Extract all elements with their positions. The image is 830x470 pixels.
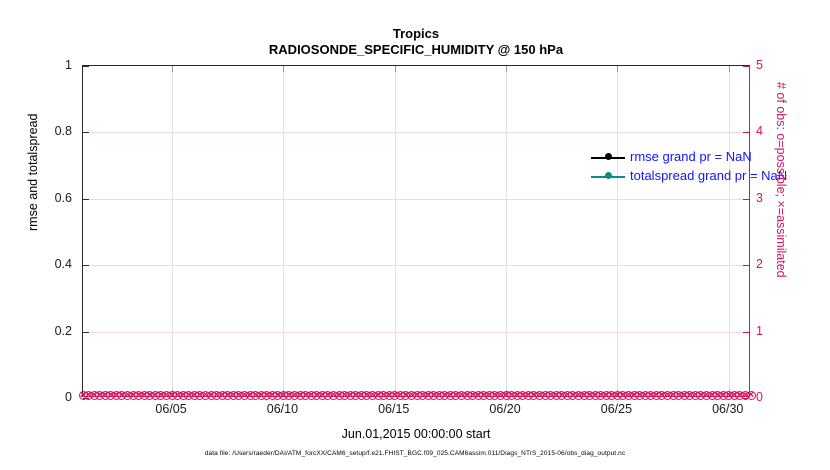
- obs-assimilated-marker: ×: [179, 391, 188, 400]
- obs-possible-marker: [268, 391, 277, 400]
- obs-assimilated-marker: ×: [479, 391, 488, 400]
- obs-assimilated-marker: ×: [580, 391, 589, 400]
- obs-assimilated-marker: ×: [557, 391, 566, 400]
- obs-possible-marker: [563, 391, 572, 400]
- obs-possible-marker: [162, 391, 171, 400]
- obs-assimilated-marker: ×: [240, 391, 249, 400]
- secondary-y-axis-tick: [743, 265, 749, 266]
- obs-possible-marker: [246, 391, 255, 400]
- obs-possible-marker: [624, 391, 633, 400]
- obs-possible-marker: [229, 391, 238, 400]
- secondary-y-axis-tick-label: 4: [756, 124, 763, 138]
- obs-assimilated-marker: ×: [418, 391, 427, 400]
- y-axis-tick: [83, 66, 89, 67]
- secondary-y-axis-tick: [743, 66, 749, 67]
- obs-assimilated-marker: ×: [574, 391, 583, 400]
- obs-possible-marker: [535, 391, 544, 400]
- obs-assimilated-marker: ×: [563, 391, 572, 400]
- horizontal-gridline: [83, 265, 749, 266]
- obs-assimilated-marker: ×: [268, 391, 277, 400]
- obs-possible-marker: [90, 391, 99, 400]
- obs-possible-marker: [602, 391, 611, 400]
- obs-assimilated-marker: ×: [708, 391, 717, 400]
- obs-possible-marker: [618, 391, 627, 400]
- obs-assimilated-marker: ×: [396, 391, 405, 400]
- obs-possible-marker: [713, 391, 722, 400]
- obs-assimilated-marker: ×: [290, 391, 299, 400]
- obs-possible-marker: [719, 391, 728, 400]
- obs-possible-marker: [696, 391, 705, 400]
- obs-possible-marker: [641, 391, 650, 400]
- obs-assimilated-marker: ×: [451, 391, 460, 400]
- legend-line-marker-icon: [591, 151, 625, 163]
- obs-assimilated-marker: ×: [435, 391, 444, 400]
- obs-possible-marker: [591, 391, 600, 400]
- obs-possible-marker: [557, 391, 566, 400]
- obs-assimilated-marker: ×: [90, 391, 99, 400]
- y-axis-tick-label: 0.6: [55, 191, 72, 205]
- obs-assimilated-marker: ×: [490, 391, 499, 400]
- obs-possible-marker: [580, 391, 589, 400]
- obs-assimilated-marker: ×: [719, 391, 728, 400]
- obs-assimilated-marker: ×: [429, 391, 438, 400]
- obs-possible-marker: [496, 391, 505, 400]
- vertical-gridline: [172, 66, 173, 396]
- obs-assimilated-marker: ×: [346, 391, 355, 400]
- obs-assimilated-marker: ×: [652, 391, 661, 400]
- y-axis-tick-label: 0.4: [55, 257, 72, 271]
- obs-possible-marker: [262, 391, 271, 400]
- obs-possible-marker: [273, 391, 282, 400]
- legend-line-marker-icon: [591, 170, 625, 182]
- y-axis-tick-label: 0.8: [55, 124, 72, 138]
- obs-possible-marker: [234, 391, 243, 400]
- x-axis-tick-label: 06/05: [155, 402, 186, 416]
- obs-assimilated-marker: ×: [424, 391, 433, 400]
- x-axis-tick-top: [172, 66, 173, 72]
- x-axis-tick-label: 06/30: [712, 402, 743, 416]
- obs-possible-marker: [106, 391, 115, 400]
- obs-possible-marker: [123, 391, 132, 400]
- secondary-y-axis-tick-label: 1: [756, 324, 763, 338]
- chart-title-block: Tropics RADIOSONDE_SPECIFIC_HUMIDITY @ 1…: [82, 26, 750, 59]
- obs-assimilated-marker: ×: [596, 391, 605, 400]
- obs-possible-marker: [307, 391, 316, 400]
- legend-label: totalspread grand pr = NaN: [630, 168, 787, 183]
- obs-possible-marker: [435, 391, 444, 400]
- obs-possible-marker: [446, 391, 455, 400]
- obs-assimilated-marker: ×: [201, 391, 210, 400]
- obs-possible-marker: [318, 391, 327, 400]
- obs-possible-marker: [257, 391, 266, 400]
- secondary-y-axis-tick-label: 2: [756, 257, 763, 271]
- obs-assimilated-marker: ×: [207, 391, 216, 400]
- data-file-note: data file: /Users/raeder/DAI/ATM_forcXX/…: [0, 450, 830, 457]
- obs-assimilated-marker: ×: [646, 391, 655, 400]
- obs-possible-marker: [546, 391, 555, 400]
- obs-assimilated-marker: ×: [257, 391, 266, 400]
- obs-assimilated-marker: ×: [318, 391, 327, 400]
- obs-possible-marker: [351, 391, 360, 400]
- x-axis-tick-top: [506, 66, 507, 72]
- obs-assimilated-marker: ×: [485, 391, 494, 400]
- obs-assimilated-marker: ×: [674, 391, 683, 400]
- obs-assimilated-marker: ×: [335, 391, 344, 400]
- obs-assimilated-marker: ×: [284, 391, 293, 400]
- obs-possible-marker: [223, 391, 232, 400]
- secondary-y-axis-tick-label: 3: [756, 191, 763, 205]
- chart-legend: rmse grand pr = NaN totalspread grand pr…: [591, 148, 787, 184]
- vertical-gridline: [395, 66, 396, 396]
- obs-assimilated-marker: ×: [669, 391, 678, 400]
- obs-assimilated-marker: ×: [730, 391, 739, 400]
- obs-assimilated-marker: ×: [123, 391, 132, 400]
- obs-assimilated-marker: ×: [685, 391, 694, 400]
- obs-possible-marker: [490, 391, 499, 400]
- obs-assimilated-marker: ×: [691, 391, 700, 400]
- obs-possible-marker: [368, 391, 377, 400]
- obs-assimilated-marker: ×: [312, 391, 321, 400]
- horizontal-gridline: [83, 132, 749, 133]
- obs-assimilated-marker: ×: [385, 391, 394, 400]
- plot-area: ××××××××××××××××××××××××××××××××××××××××…: [82, 65, 750, 397]
- obs-possible-marker: [101, 391, 110, 400]
- obs-assimilated-marker: ×: [696, 391, 705, 400]
- vertical-gridline: [283, 66, 284, 396]
- obs-assimilated-marker: ×: [513, 391, 522, 400]
- obs-possible-marker: [607, 391, 616, 400]
- obs-possible-marker: [708, 391, 717, 400]
- obs-assimilated-marker: ×: [591, 391, 600, 400]
- obs-assimilated-marker: ×: [518, 391, 527, 400]
- obs-assimilated-marker: ×: [702, 391, 711, 400]
- obs-assimilated-marker: ×: [229, 391, 238, 400]
- obs-assimilated-marker: ×: [624, 391, 633, 400]
- obs-possible-marker: [179, 391, 188, 400]
- obs-possible-marker: [474, 391, 483, 400]
- obs-assimilated-marker: ×: [680, 391, 689, 400]
- x-axis-tick-label: 06/15: [378, 402, 409, 416]
- obs-possible-marker: [529, 391, 538, 400]
- obs-assimilated-marker: ×: [106, 391, 115, 400]
- obs-possible-marker: [340, 391, 349, 400]
- obs-possible-marker: [207, 391, 216, 400]
- legend-label: rmse grand pr = NaN: [630, 149, 752, 164]
- obs-assimilated-marker: ×: [234, 391, 243, 400]
- secondary-y-axis-title: # of obs: o=possible; ×=assimilated: [774, 82, 788, 278]
- obs-assimilated-marker: ×: [223, 391, 232, 400]
- obs-possible-marker: [173, 391, 182, 400]
- obs-possible-marker: [296, 391, 305, 400]
- obs-possible-marker: [518, 391, 527, 400]
- chart-subtitle: RADIOSONDE_SPECIFIC_HUMIDITY @ 150 hPa: [82, 42, 750, 58]
- obs-possible-marker: [674, 391, 683, 400]
- obs-assimilated-marker: ×: [195, 391, 204, 400]
- obs-assimilated-marker: ×: [585, 391, 594, 400]
- obs-assimilated-marker: ×: [251, 391, 260, 400]
- legend-item[interactable]: rmse grand pr = NaN: [591, 148, 787, 165]
- obs-assimilated-marker: ×: [568, 391, 577, 400]
- obs-assimilated-marker: ×: [630, 391, 639, 400]
- obs-possible-marker: [140, 391, 149, 400]
- obs-possible-marker: [379, 391, 388, 400]
- obs-possible-marker: [463, 391, 472, 400]
- obs-assimilated-marker: ×: [117, 391, 126, 400]
- obs-assimilated-marker: ×: [101, 391, 110, 400]
- obs-possible-marker: [429, 391, 438, 400]
- obs-assimilated-marker: ×: [413, 391, 422, 400]
- obs-assimilated-marker: ×: [151, 391, 160, 400]
- chart-title: Tropics: [82, 26, 750, 42]
- obs-possible-marker: [184, 391, 193, 400]
- obs-possible-marker: [585, 391, 594, 400]
- x-axis-tick-label: 06/25: [601, 402, 632, 416]
- obs-possible-marker: [424, 391, 433, 400]
- obs-assimilated-marker: ×: [657, 391, 666, 400]
- secondary-y-axis-tick: [743, 398, 749, 399]
- obs-possible-marker: [524, 391, 533, 400]
- obs-possible-marker: [218, 391, 227, 400]
- secondary-y-axis-tick-label: 0: [756, 390, 763, 404]
- obs-assimilated-marker: ×: [357, 391, 366, 400]
- obs-assimilated-marker: ×: [407, 391, 416, 400]
- obs-assimilated-marker: ×: [496, 391, 505, 400]
- chart-figure: Tropics RADIOSONDE_SPECIFIC_HUMIDITY @ 1…: [0, 0, 830, 470]
- obs-assimilated-marker: ×: [529, 391, 538, 400]
- obs-possible-marker: [568, 391, 577, 400]
- obs-assimilated-marker: ×: [641, 391, 650, 400]
- obs-possible-marker: [451, 391, 460, 400]
- obs-possible-marker: [357, 391, 366, 400]
- obs-possible-marker: [112, 391, 121, 400]
- obs-possible-marker: [685, 391, 694, 400]
- obs-assimilated-marker: ×: [618, 391, 627, 400]
- obs-assimilated-marker: ×: [457, 391, 466, 400]
- x-axis-title: Jun.01,2015 00:00:00 start: [82, 427, 750, 441]
- obs-assimilated-marker: ×: [440, 391, 449, 400]
- y-axis-tick-label: 1: [65, 58, 72, 72]
- obs-assimilated-marker: ×: [351, 391, 360, 400]
- secondary-y-axis-tick: [743, 132, 749, 133]
- obs-possible-marker: [284, 391, 293, 400]
- obs-possible-marker: [346, 391, 355, 400]
- obs-possible-marker: [396, 391, 405, 400]
- obs-assimilated-marker: ×: [95, 391, 104, 400]
- obs-possible-marker: [129, 391, 138, 400]
- obs-assimilated-marker: ×: [474, 391, 483, 400]
- vertical-gridline: [617, 66, 618, 396]
- obs-possible-marker: [552, 391, 561, 400]
- obs-assimilated-marker: ×: [446, 391, 455, 400]
- obs-assimilated-marker: ×: [602, 391, 611, 400]
- vertical-gridline: [729, 66, 730, 396]
- obs-assimilated-marker: ×: [296, 391, 305, 400]
- obs-assimilated-marker: ×: [145, 391, 154, 400]
- obs-possible-marker: [630, 391, 639, 400]
- vertical-gridline: [506, 66, 507, 396]
- horizontal-gridline: [83, 199, 749, 200]
- obs-possible-marker: [95, 391, 104, 400]
- y-axis-tick: [83, 332, 89, 333]
- obs-assimilated-marker: ×: [374, 391, 383, 400]
- y-axis-tick-label: 0.2: [55, 324, 72, 338]
- obs-possible-marker: [596, 391, 605, 400]
- obs-assimilated-marker: ×: [162, 391, 171, 400]
- horizontal-gridline: [83, 332, 749, 333]
- obs-possible-marker: [635, 391, 644, 400]
- obs-assimilated-marker: ×: [329, 391, 338, 400]
- obs-possible-marker: [117, 391, 126, 400]
- obs-possible-marker: [702, 391, 711, 400]
- obs-possible-marker: [646, 391, 655, 400]
- obs-possible-marker: [329, 391, 338, 400]
- obs-possible-marker: [485, 391, 494, 400]
- obs-possible-marker: [513, 391, 522, 400]
- obs-possible-marker: [374, 391, 383, 400]
- obs-assimilated-marker: ×: [713, 391, 722, 400]
- y-axis-tick: [83, 398, 89, 399]
- obs-possible-marker: [323, 391, 332, 400]
- x-axis-tick-label: 06/20: [489, 402, 520, 416]
- obs-possible-marker: [479, 391, 488, 400]
- obs-possible-marker: [251, 391, 260, 400]
- x-axis-tick-top: [395, 66, 396, 72]
- x-axis-tick-top: [617, 66, 618, 72]
- obs-assimilated-marker: ×: [246, 391, 255, 400]
- obs-assimilated-marker: ×: [262, 391, 271, 400]
- obs-assimilated-marker: ×: [273, 391, 282, 400]
- obs-possible-marker: [413, 391, 422, 400]
- obs-assimilated-marker: ×: [663, 391, 672, 400]
- obs-assimilated-marker: ×: [134, 391, 143, 400]
- obs-assimilated-marker: ×: [607, 391, 616, 400]
- obs-possible-marker: [457, 391, 466, 400]
- obs-assimilated-marker: ×: [184, 391, 193, 400]
- obs-assimilated-marker: ×: [140, 391, 149, 400]
- obs-assimilated-marker: ×: [129, 391, 138, 400]
- obs-assimilated-marker: ×: [156, 391, 165, 400]
- obs-assimilated-marker: ×: [301, 391, 310, 400]
- obs-assimilated-marker: ×: [507, 391, 516, 400]
- obs-assimilated-marker: ×: [635, 391, 644, 400]
- obs-assimilated-marker: ×: [307, 391, 316, 400]
- x-axis-tick: [506, 390, 507, 396]
- obs-assimilated-marker: ×: [463, 391, 472, 400]
- y-axis-tick: [83, 265, 89, 266]
- obs-assimilated-marker: ×: [362, 391, 371, 400]
- y-axis-tick-label: 0: [65, 390, 72, 404]
- obs-possible-marker: [407, 391, 416, 400]
- obs-possible-marker: [691, 391, 700, 400]
- x-axis-tick-label: 06/10: [267, 402, 298, 416]
- obs-possible-marker: [312, 391, 321, 400]
- obs-possible-marker: [468, 391, 477, 400]
- obs-possible-marker: [301, 391, 310, 400]
- x-axis-tick-top: [283, 66, 284, 72]
- obs-assimilated-marker: ×: [535, 391, 544, 400]
- x-axis-tick: [172, 390, 173, 396]
- obs-possible-marker: [385, 391, 394, 400]
- obs-possible-marker: [240, 391, 249, 400]
- obs-assimilated-marker: ×: [546, 391, 555, 400]
- obs-possible-marker: [195, 391, 204, 400]
- x-axis-tick: [617, 390, 618, 396]
- obs-possible-marker: [401, 391, 410, 400]
- obs-assimilated-marker: ×: [212, 391, 221, 400]
- obs-assimilated-marker: ×: [218, 391, 227, 400]
- obs-possible-marker: [335, 391, 344, 400]
- secondary-y-axis-tick-label: 5: [756, 58, 763, 72]
- obs-marker-series: ××××××××××××××××××××××××××××××××××××××××…: [83, 380, 749, 396]
- obs-possible-marker: [201, 391, 210, 400]
- obs-possible-marker: [669, 391, 678, 400]
- obs-possible-marker: [730, 391, 739, 400]
- obs-possible-marker: [151, 391, 160, 400]
- obs-possible-marker: [156, 391, 165, 400]
- obs-assimilated-marker: ×: [368, 391, 377, 400]
- obs-assimilated-marker: ×: [401, 391, 410, 400]
- obs-possible-marker: [680, 391, 689, 400]
- obs-assimilated-marker: ×: [524, 391, 533, 400]
- y-axis-title: rmse and totalspread: [26, 114, 40, 231]
- obs-assimilated-marker: ×: [379, 391, 388, 400]
- obs-possible-marker: [657, 391, 666, 400]
- obs-assimilated-marker: ×: [173, 391, 182, 400]
- obs-assimilated-marker: ×: [468, 391, 477, 400]
- x-axis-tick: [283, 390, 284, 396]
- obs-possible-marker: [190, 391, 199, 400]
- legend-item[interactable]: totalspread grand pr = NaN: [591, 167, 787, 184]
- obs-assimilated-marker: ×: [112, 391, 121, 400]
- obs-possible-marker: [652, 391, 661, 400]
- obs-assimilated-marker: ×: [340, 391, 349, 400]
- obs-assimilated-marker: ×: [323, 391, 332, 400]
- x-axis-tick: [395, 390, 396, 396]
- x-axis-tick-top: [729, 66, 730, 72]
- obs-assimilated-marker: ×: [552, 391, 561, 400]
- y-axis-tick: [83, 199, 89, 200]
- obs-assimilated-marker: ×: [541, 391, 550, 400]
- obs-possible-marker: [212, 391, 221, 400]
- obs-possible-marker: [440, 391, 449, 400]
- secondary-y-axis-tick: [743, 199, 749, 200]
- x-axis-tick: [729, 390, 730, 396]
- obs-possible-marker: [134, 391, 143, 400]
- obs-possible-marker: [663, 391, 672, 400]
- obs-possible-marker: [290, 391, 299, 400]
- obs-possible-marker: [418, 391, 427, 400]
- y-axis-tick: [83, 132, 89, 133]
- secondary-y-axis-tick: [743, 332, 749, 333]
- obs-possible-marker: [507, 391, 516, 400]
- obs-possible-marker: [541, 391, 550, 400]
- obs-possible-marker: [362, 391, 371, 400]
- obs-assimilated-marker: ×: [190, 391, 199, 400]
- obs-possible-marker: [574, 391, 583, 400]
- obs-possible-marker: [145, 391, 154, 400]
